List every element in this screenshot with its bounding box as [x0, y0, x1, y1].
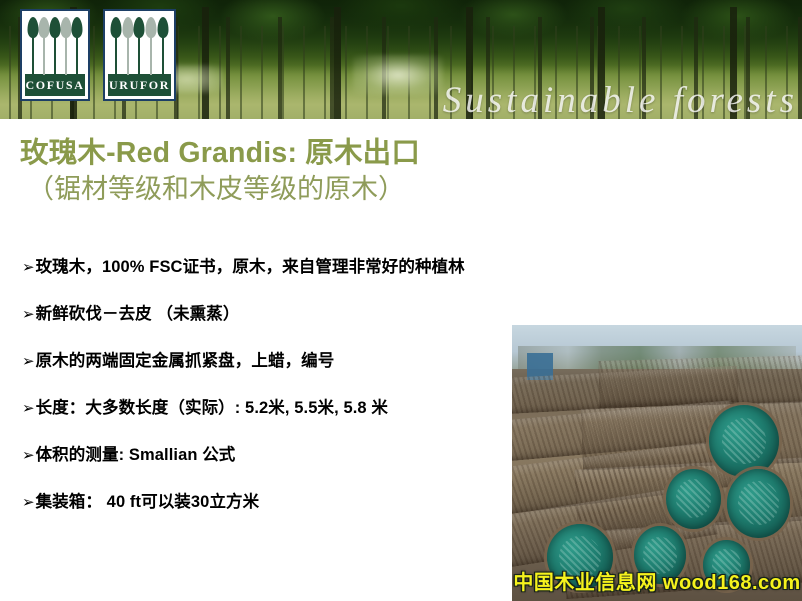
logo-tree-icon	[110, 17, 121, 74]
log-end-face	[727, 469, 791, 538]
list-item-label: 原木的两端固定金属抓紧盘，上蜡，编号	[36, 347, 582, 371]
list-item: ➢ 体积的测量: Smallian 公式	[22, 441, 582, 488]
logo-tree-icon	[72, 17, 83, 74]
log-stack-illustration	[512, 325, 802, 601]
arrow-bullet-icon: ➢	[22, 495, 35, 510]
log-end-face	[666, 469, 721, 530]
list-item: ➢ 原木的两端固定金属抓紧盘，上蜡，编号	[22, 347, 582, 394]
list-item: ➢ 集装箱： 40 ft可以装30立方米	[22, 488, 582, 535]
logo-tree-row	[24, 13, 86, 74]
list-item-label: 新鲜砍伐－去皮 （未熏蒸）	[36, 300, 582, 324]
arrow-bullet-icon: ➢	[22, 448, 35, 463]
arrow-bullet-icon: ➢	[22, 260, 35, 275]
logo-cofusa: COFUSA	[20, 9, 90, 101]
arrow-bullet-icon: ➢	[22, 401, 35, 416]
logo-tree-icon	[134, 17, 145, 74]
log-stack-photo: 中国木业信息网 wood168.com	[512, 325, 802, 601]
logo-tree-icon	[38, 17, 49, 74]
logo-tree-row	[107, 13, 172, 74]
logo-name-cofusa: COFUSA	[25, 74, 85, 96]
log-body	[598, 355, 802, 408]
logo-tree-icon	[146, 17, 157, 74]
list-item: ➢ 长度：大多数长度（实际）: 5.2米, 5.5米, 5.8 米	[22, 394, 582, 441]
logo-tree-icon	[27, 17, 38, 74]
arrow-bullet-icon: ➢	[22, 354, 35, 369]
sunlight-patch	[353, 55, 443, 95]
bullet-list: ➢ 玫瑰木，100% FSC证书，原木，来自管理非常好的种植林 ➢ 新鲜砍伐－去…	[22, 253, 582, 535]
list-item-label: 体积的测量: Smallian 公式	[36, 441, 582, 465]
site-watermark: 中国木业信息网 wood168.com	[512, 566, 802, 595]
list-item: ➢ 玫瑰木，100% FSC证书，原木，来自管理非常好的种植林	[22, 253, 582, 300]
log-end-face	[709, 405, 779, 477]
list-item: ➢ 新鲜砍伐－去皮 （未熏蒸）	[22, 300, 582, 347]
header-banner: Sustainable forests COFUSA	[0, 0, 802, 119]
arrow-bullet-icon: ➢	[22, 307, 35, 322]
slide-subtitle: （锯材等级和木皮等级的原木）	[20, 172, 640, 207]
slide-title: 玫瑰木-Red Grandis: 原木出口	[20, 136, 640, 171]
logo-name-urufor: URUFOR	[108, 74, 171, 96]
logo-urufor: URUFOR	[103, 9, 176, 101]
logo-tree-icon	[61, 17, 72, 74]
logo-tree-icon	[122, 17, 133, 74]
logo-tree-icon	[158, 17, 169, 74]
banner-tagline: Sustainable forests	[443, 82, 798, 119]
list-item-label: 长度：大多数长度（实际）: 5.2米, 5.5米, 5.8 米	[36, 394, 582, 418]
list-item-label: 集装箱： 40 ft可以装30立方米	[36, 488, 582, 512]
presentation-slide: Sustainable forests COFUSA	[0, 0, 802, 601]
title-block: 玫瑰木-Red Grandis: 原木出口 （锯材等级和木皮等级的原木）	[20, 136, 640, 207]
logo-tree-icon	[49, 17, 60, 74]
list-item-label: 玫瑰木，100% FSC证书，原木，来自管理非常好的种植林	[36, 253, 582, 277]
